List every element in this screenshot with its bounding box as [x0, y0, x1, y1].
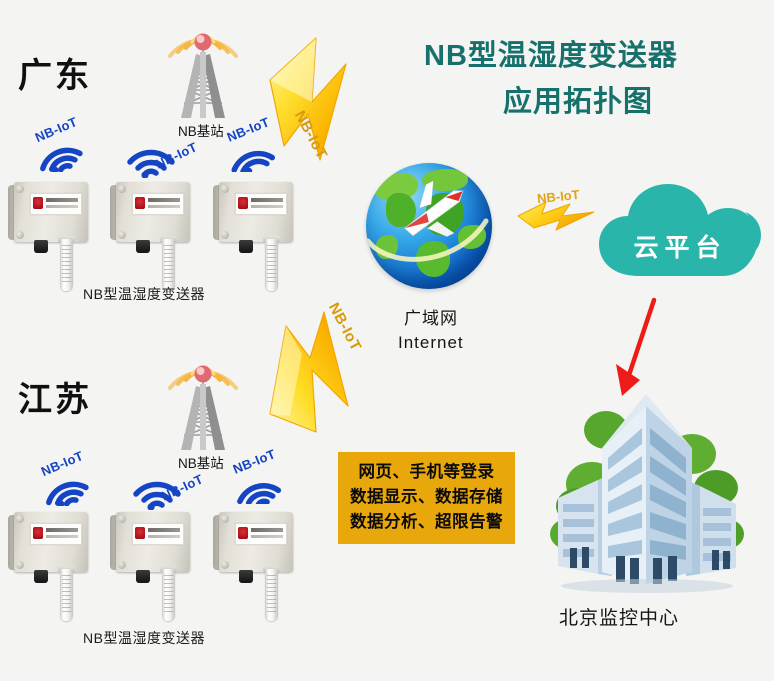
nameplate-text	[148, 528, 180, 532]
sensor-nameplate	[30, 523, 82, 545]
sensor-connector	[239, 240, 253, 253]
nameplate-subtext	[46, 535, 78, 538]
nameplate-text	[46, 528, 78, 532]
sensor-nameplate	[235, 193, 287, 215]
sensor-probe	[162, 569, 175, 621]
region-label-jiangsu: 江苏	[18, 372, 92, 421]
sensor-nameplate	[30, 193, 82, 215]
sensor-device-2	[110, 182, 196, 297]
region-label-guangdong: 广东	[18, 48, 92, 97]
sensor-screw	[221, 231, 229, 239]
internet-label-en: Internet	[398, 333, 464, 353]
base-station-tower-1	[148, 8, 258, 136]
sensor-caption-1: NB型温湿度变送器	[83, 284, 205, 304]
internet-label-cn: 广域网	[404, 304, 458, 329]
nameplate-subtext	[46, 205, 78, 208]
sensor-screw	[221, 515, 229, 523]
sensor-probe	[60, 569, 73, 621]
sensor-screw	[118, 231, 126, 239]
sensor-probe	[265, 569, 278, 621]
sensor-nameplate	[132, 193, 184, 215]
base-station-tower-2	[148, 340, 258, 468]
sensor-screw	[118, 185, 126, 193]
feature-line-3: 数据分析、超限告警	[350, 510, 503, 535]
sensor-device-5	[110, 512, 196, 627]
page-title-line1: NB型温湿度变送器	[424, 32, 678, 74]
sensor-connector	[239, 570, 253, 583]
brand-logo-icon	[135, 527, 145, 539]
sensor-nameplate	[235, 523, 287, 545]
sensor-screw	[118, 515, 126, 523]
nbiot-uplink-bolt-bottom	[256, 296, 386, 441]
cloud-platform: 云平台	[595, 176, 765, 280]
nbiot-node-2: NB-IoT	[122, 132, 184, 182]
sensor-device-1	[8, 182, 94, 297]
brand-logo-icon	[135, 197, 145, 209]
sensor-screw	[221, 185, 229, 193]
sensor-screw	[16, 515, 24, 523]
nbiot-uplink-bolt-top: NB-IoT	[254, 36, 384, 181]
sensor-probe	[265, 239, 278, 291]
nbiot-node-1: NB-IoT	[28, 126, 90, 176]
sensor-connector	[136, 570, 150, 583]
brand-logo-icon	[238, 197, 248, 209]
feature-line-1: 网页、手机等登录	[350, 460, 503, 485]
nameplate-text	[251, 528, 283, 532]
sensor-connector	[34, 240, 48, 253]
nameplate-subtext	[148, 535, 180, 538]
nameplate-subtext	[251, 205, 283, 208]
tower-icon	[148, 340, 258, 458]
nbiot-node-6: NB-IoT	[228, 458, 290, 508]
sensor-probe	[60, 239, 73, 291]
sensor-screw	[221, 561, 229, 569]
sensor-screw	[16, 231, 24, 239]
cloud-platform-label: 云平台	[595, 228, 765, 264]
nameplate-text	[148, 198, 180, 202]
building-icon	[540, 388, 755, 598]
sensor-caption-2: NB型温湿度变送器	[83, 628, 205, 648]
tower-icon	[148, 8, 258, 126]
monitoring-center-building	[540, 388, 755, 603]
feature-info-box: 网页、手机等登录 数据显示、数据存储 数据分析、超限告警	[338, 452, 515, 544]
topology-diagram: NB型温湿度变送器 应用拓扑图 广东 NB基站	[0, 0, 774, 681]
internet-globe	[366, 163, 492, 289]
airplane-orbit-icon	[366, 163, 492, 289]
sensor-connector	[136, 240, 150, 253]
sensor-screw	[16, 561, 24, 569]
monitoring-center-label: 北京监控中心	[559, 603, 679, 630]
lightning-bolt-icon	[256, 296, 386, 436]
sensor-screw	[118, 561, 126, 569]
brand-logo-icon	[238, 527, 248, 539]
nbiot-node-5: NB-IoT	[128, 464, 190, 514]
nbiot-node-4: NB-IoT	[34, 460, 96, 510]
sensor-device-3	[213, 182, 299, 297]
brand-logo-icon	[33, 197, 43, 209]
page-title-line2: 应用拓扑图	[503, 78, 653, 120]
sensor-connector	[34, 570, 48, 583]
nameplate-text	[46, 198, 78, 202]
sensor-screw	[16, 185, 24, 193]
sensor-device-6	[213, 512, 299, 627]
brand-logo-icon	[33, 527, 43, 539]
nameplate-text	[251, 198, 283, 202]
sensor-nameplate	[132, 523, 184, 545]
nameplate-subtext	[148, 205, 180, 208]
tower-caption-1: NB基站	[178, 120, 224, 140]
sensor-device-4	[8, 512, 94, 627]
nameplate-subtext	[251, 535, 283, 538]
feature-line-2: 数据显示、数据存储	[350, 485, 503, 510]
